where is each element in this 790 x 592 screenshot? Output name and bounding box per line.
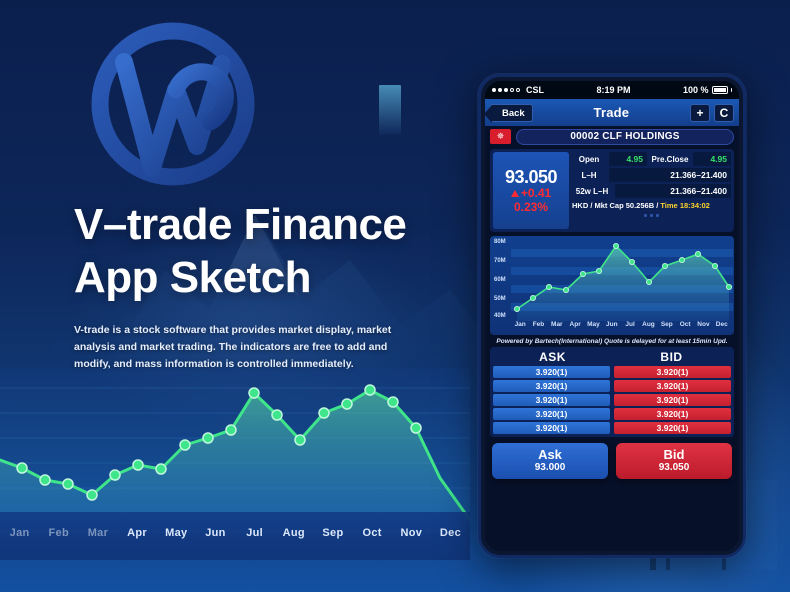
ask-button-price: 93.000 (535, 462, 566, 474)
preclose-label: Pre.Close (650, 155, 690, 164)
bid-cell[interactable]: 3.920(1) (614, 366, 731, 378)
hero-month-jun: Jun (196, 527, 235, 539)
bid-cell[interactable]: 3.920(1) (614, 408, 731, 420)
vc-month-sep: Sep (658, 321, 676, 332)
hong-kong-flag-icon: ✵ (490, 129, 511, 144)
vc-month-may: May (584, 321, 602, 332)
table-row[interactable]: 3.920(1) 3.920(1) (493, 422, 731, 434)
volume-chart-inner: 80M 70M 60M 50M 40M (493, 239, 731, 332)
ask-cell[interactable]: 3.920(1) (493, 422, 610, 434)
preclose-value: 4.95 (693, 152, 731, 166)
volume-chart-yaxis: 80M 70M 60M 50M 40M (493, 239, 511, 321)
quote-footer-main: HKD / Mkt Cap 50.256B / (572, 201, 660, 210)
depth-table: ASK BID 3.920(1) 3.920(1) 3.920(1) 3.920… (490, 347, 734, 437)
vc-month-jan: Jan (511, 321, 529, 332)
signal-dots-icon (492, 88, 520, 92)
battery-tip-icon (731, 88, 733, 92)
phone-screen: CSL 8:19 PM 100 % Back Trade + C ✵ (485, 81, 739, 551)
hero-month-dec: Dec (431, 527, 470, 539)
hero-month-feb: Feb (39, 527, 78, 539)
add-button[interactable]: + (690, 104, 710, 122)
nav-bar: Back Trade + C (485, 99, 739, 126)
quote-row-open: Open 4.95 Pre.Close 4.95 (572, 152, 731, 166)
battery-percent: 100 % (683, 85, 709, 95)
ytick-80m: 80M (494, 239, 506, 245)
vc-month-mar: Mar (548, 321, 566, 332)
bid-cell[interactable]: 3.920(1) (614, 422, 731, 434)
ytick-60m: 60M (494, 277, 506, 283)
ask-cell[interactable]: 3.920(1) (493, 380, 610, 392)
quote-panel: 93.050 +0.41 0.23% Open 4.95 Pre.Close 4… (490, 149, 734, 232)
stock-name-row: ✵ 00002 CLF HOLDINGS (485, 126, 739, 147)
flag-glyph: ✵ (497, 132, 505, 141)
vc-month-aug: Aug (639, 321, 657, 332)
ytick-40m: 40M (494, 313, 506, 319)
week52-label: 52w L–H (572, 187, 612, 196)
powered-by-disclaimer: Powered by Bartech(International) Quote … (489, 338, 735, 345)
vc-month-apr: Apr (566, 321, 584, 332)
bid-cell[interactable]: 3.920(1) (614, 380, 731, 392)
hero-month-sep: Sep (313, 527, 352, 539)
vc-month-dec: Dec (713, 321, 731, 332)
last-price: 93.050 (505, 167, 557, 187)
status-time: 8:19 PM (544, 85, 683, 95)
quote-footer: HKD / Mkt Cap 50.256B / Time 18:34:02 (572, 201, 731, 210)
open-value: 4.95 (609, 152, 647, 166)
table-row[interactable]: 3.920(1) 3.920(1) (493, 380, 731, 392)
action-buttons: Ask 93.000 Bid 93.050 (485, 437, 739, 479)
bid-cell[interactable]: 3.920(1) (614, 394, 731, 406)
depth-table-header: ASK BID (493, 350, 731, 364)
open-label: Open (572, 155, 606, 164)
volume-chart-svg (511, 241, 733, 321)
bid-button[interactable]: Bid 93.050 (616, 443, 732, 479)
status-battery: 100 % (683, 85, 732, 95)
status-bar: CSL 8:19 PM 100 % (485, 81, 739, 99)
bid-button-price: 93.050 (659, 462, 690, 474)
hero-month-mar: Mar (78, 527, 117, 539)
decorative-bar (379, 85, 401, 135)
hero-month-apr: Apr (118, 527, 157, 539)
vc-month-jul: Jul (621, 321, 639, 332)
quote-details: Open 4.95 Pre.Close 4.95 L–H 21.366–21.4… (572, 152, 731, 229)
hero-chart-svg (0, 368, 470, 533)
ask-button[interactable]: Ask 93.000 (492, 443, 608, 479)
back-button[interactable]: Back (490, 104, 533, 122)
quote-row-low-high: L–H 21.366–21.400 (572, 168, 731, 182)
stock-name-field[interactable]: 00002 CLF HOLDINGS (516, 129, 734, 145)
up-triangle-icon (511, 190, 519, 197)
ask-cell[interactable]: 3.920(1) (493, 394, 610, 406)
price-change-percent: 0.23% (514, 200, 548, 214)
status-signal: CSL (492, 85, 544, 95)
ask-cell[interactable]: 3.920(1) (493, 366, 610, 378)
refresh-button[interactable]: C (714, 104, 734, 122)
table-row[interactable]: 3.920(1) 3.920(1) (493, 366, 731, 378)
phone-mockup: CSL 8:19 PM 100 % Back Trade + C ✵ (478, 74, 746, 558)
ask-button-label: Ask (538, 448, 562, 462)
vc-month-nov: Nov (694, 321, 712, 332)
hero-month-may: May (157, 527, 196, 539)
table-row[interactable]: 3.920(1) 3.920(1) (493, 394, 731, 406)
title-line-1: V–trade Finance (74, 200, 406, 249)
vc-month-feb: Feb (529, 321, 547, 332)
hero-month-jul: Jul (235, 527, 274, 539)
title-line-2: App Sketch (74, 251, 494, 304)
bid-button-label: Bid (664, 448, 685, 462)
price-box: 93.050 +0.41 0.23% (493, 152, 569, 229)
low-high-label: L–H (572, 171, 606, 180)
v-trade-wave-circle-logo-icon (80, 18, 266, 198)
quote-footer-time: Time 18:34:02 (660, 201, 709, 210)
ytick-70m: 70M (494, 258, 506, 264)
ytick-50m: 50M (494, 296, 506, 302)
ask-cell[interactable]: 3.920(1) (493, 408, 610, 420)
volume-chart-month-labels: Jan Feb Mar Apr May Jun Jul Aug Sep Oct … (511, 321, 731, 332)
vc-month-oct: Oct (676, 321, 694, 332)
page-dots-indicator[interactable] (572, 214, 731, 217)
hero-month-nov: Nov (392, 527, 431, 539)
poster-stage: V–trade Finance App Sketch V-trade is a … (0, 0, 790, 592)
ask-column-header: ASK (493, 350, 612, 364)
bid-column-header: BID (612, 350, 731, 364)
nav-title: Trade (537, 105, 686, 120)
price-change-value: +0.41 (521, 187, 551, 200)
low-high-value: 21.366–21.400 (609, 168, 731, 182)
price-change: +0.41 (511, 187, 551, 200)
hero-description: V-trade is a stock software that provide… (74, 322, 404, 373)
volume-chart: 80M 70M 60M 50M 40M (490, 236, 734, 335)
hero-month-jan: Jan (0, 527, 39, 539)
hero-month-oct: Oct (353, 527, 392, 539)
vc-month-jun: Jun (603, 321, 621, 332)
page-title: V–trade Finance App Sketch (74, 198, 494, 304)
carrier-label: CSL (526, 85, 544, 95)
quote-row-52w: 52w L–H 21.366–21.400 (572, 184, 731, 198)
table-row[interactable]: 3.920(1) 3.920(1) (493, 408, 731, 420)
battery-icon (712, 86, 728, 94)
week52-value: 21.366–21.400 (615, 184, 731, 198)
hero-background-chart: Jan Feb Mar Apr May Jun Jul Aug Sep Oct … (0, 368, 470, 592)
hero-month-aug: Aug (274, 527, 313, 539)
hero-chart-month-labels: Jan Feb Mar Apr May Jun Jul Aug Sep Oct … (0, 518, 470, 548)
